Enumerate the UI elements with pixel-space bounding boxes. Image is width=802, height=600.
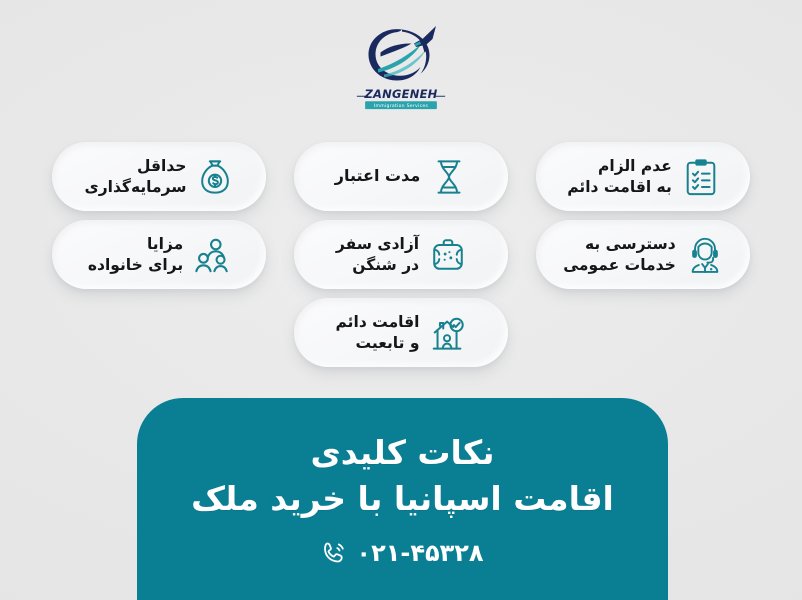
- house-person-check-icon: [430, 314, 466, 352]
- brand-tagline: Immigration Services: [374, 103, 429, 109]
- brand-name: ZANGENEH: [363, 87, 437, 101]
- infographic-canvas: ZANGENEH Immigration Services: [0, 0, 802, 600]
- banner-title: نکات کلیدی اقامت اسپانیا با خرید ملک: [191, 430, 614, 521]
- card-minimum-investment[interactable]: حداقل سرمایه‌گذاری: [52, 142, 266, 211]
- card-label: حداقل سرمایه‌گذاری: [85, 156, 187, 196]
- card-label: مدت اعتبار: [335, 166, 421, 187]
- card-permanent-residency-and-citizenship[interactable]: اقامت دائم و تابعیت: [294, 298, 508, 367]
- card-family-benefits[interactable]: مزایا برای خانواده: [52, 220, 266, 289]
- support-agent-headset-icon: [687, 236, 723, 274]
- family-group-icon: [194, 236, 230, 274]
- card-label: دسترسی به خدمات عمومی: [563, 234, 676, 274]
- phone-number: ۰۲۱-۴۵۳۲۸: [356, 539, 483, 567]
- card-label: عدم الزام به اقامت دائم: [567, 156, 672, 196]
- suitcase-icon: [430, 236, 466, 274]
- clipboard-checklist-icon: [683, 158, 719, 196]
- cta-banner: نکات کلیدی اقامت اسپانیا با خرید ملک ۰۲۱…: [137, 398, 668, 600]
- benefits-row-2: دسترسی به خدمات عمومی: [0, 220, 802, 289]
- card-schengen-travel-freedom[interactable]: آزادی سفر در شنگن: [294, 220, 508, 289]
- money-bag-icon: [197, 158, 233, 196]
- phone-call-icon: [321, 540, 347, 566]
- card-access-to-public-services[interactable]: دسترسی به خدمات عمومی: [536, 220, 750, 289]
- phone-contact[interactable]: ۰۲۱-۴۵۳۲۸: [321, 539, 483, 567]
- card-label: آزادی سفر در شنگن: [336, 234, 419, 274]
- brand-logo: ZANGENEH Immigration Services: [0, 22, 802, 112]
- benefits-row-1: عدم الزام به اقامت دائم مدت اعتبار: [0, 142, 802, 211]
- card-label: مزایا برای خانواده: [88, 234, 183, 274]
- globe-swoosh-airplane-icon: [358, 22, 444, 88]
- card-validity-period[interactable]: مدت اعتبار: [294, 142, 508, 211]
- benefits-grid: عدم الزام به اقامت دائم مدت اعتبار: [0, 142, 802, 367]
- hourglass-icon: [431, 158, 467, 196]
- brand-wordmark: ZANGENEH Immigration Services: [355, 86, 447, 112]
- card-label: اقامت دائم و تابعیت: [336, 312, 420, 352]
- card-no-permanent-residency-requirement[interactable]: عدم الزام به اقامت دائم: [536, 142, 750, 211]
- benefits-row-3: اقامت دائم و تابعیت: [0, 298, 802, 367]
